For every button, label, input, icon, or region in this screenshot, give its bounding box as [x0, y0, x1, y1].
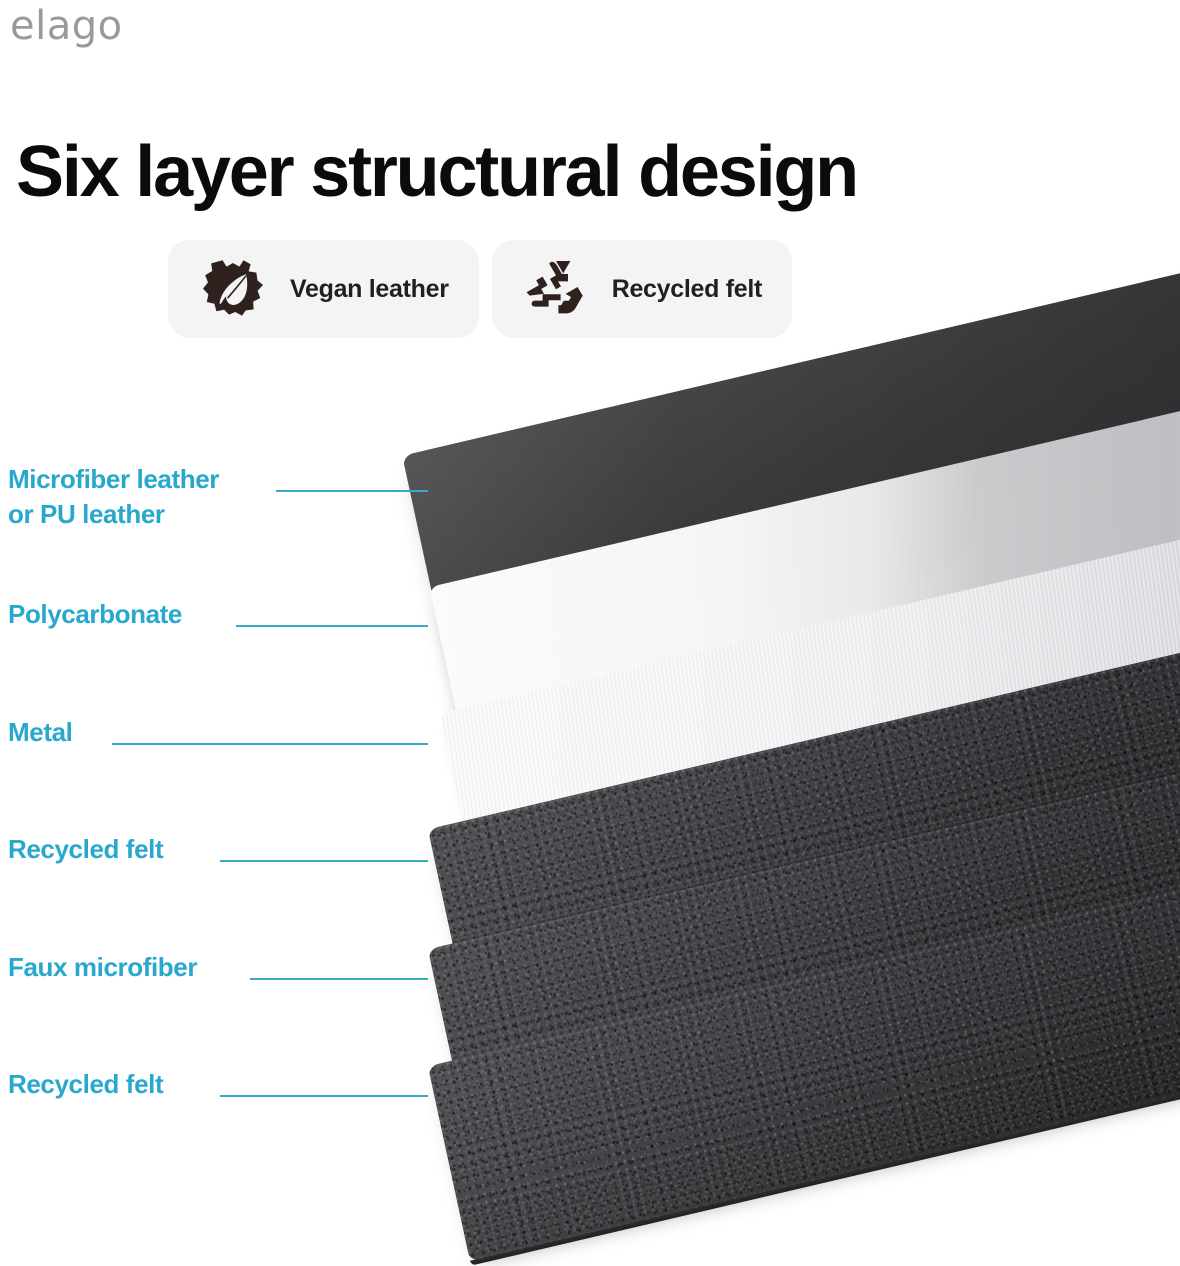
callout-metal: Metal: [8, 715, 72, 750]
brand-logo: elago: [10, 4, 123, 48]
layer-sheet-recycled-felt-lower: [428, 833, 1180, 1261]
callout-label: Microfiber leather or PU leather: [8, 462, 219, 532]
callout-leader-line: [276, 490, 428, 492]
callout-leader-line: [236, 625, 428, 627]
recycle-arrows-icon: [526, 259, 586, 320]
badge-label: Vegan leather: [290, 275, 449, 304]
badge-label: Recycled felt: [612, 275, 762, 304]
layer-sheet-faux-microfiber: [428, 717, 1180, 1144]
callout-label: Polycarbonate: [8, 597, 182, 632]
badge-vegan-leather: Vegan leather: [168, 240, 479, 338]
callout-label: Recycled felt: [8, 832, 163, 867]
callout-label: Faux microfiber: [8, 950, 197, 985]
callout-leader-line: [250, 978, 428, 980]
callout-recycled-felt-upper: Recycled felt: [8, 832, 163, 867]
page-title: Six layer structural design: [16, 130, 857, 214]
callout-polycarbonate: Polycarbonate: [8, 597, 182, 632]
callout-leader-line: [220, 860, 428, 862]
callout-recycled-felt-lower: Recycled felt: [8, 1067, 163, 1102]
callout-microfiber-leather: Microfiber leather or PU leather: [8, 462, 219, 532]
callout-label: Metal: [8, 715, 72, 750]
material-badge-group: Vegan leather Recycled felt: [168, 240, 792, 338]
callout-faux-microfiber: Faux microfiber: [8, 950, 197, 985]
layer-sheet-recycled-felt-upper: [428, 599, 1180, 1025]
layer-sheet-polycarbonate: [429, 361, 1180, 779]
sheet-edge: [472, 544, 1180, 782]
sheet-edge: [470, 1028, 1180, 1266]
sheet-edge: [470, 793, 1180, 1029]
sheet-edge: [464, 593, 1180, 825]
callout-label: Recycled felt: [8, 1067, 163, 1102]
badge-recycled-felt: Recycled felt: [492, 240, 792, 338]
callout-leader-line: [112, 743, 428, 745]
callout-leader-line: [220, 1095, 428, 1097]
layer-sheet-metal: [440, 485, 1180, 823]
sheet-edge: [471, 552, 1180, 782]
sheet-edge: [470, 912, 1180, 1149]
leather-hide-leaf-icon: [202, 258, 264, 321]
